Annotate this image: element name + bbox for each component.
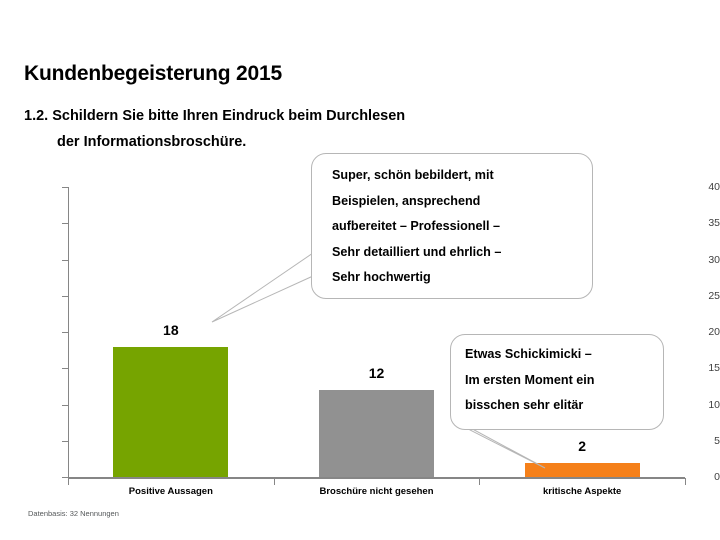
bar-value-label: 2 xyxy=(578,438,586,454)
category-label: kritische Aspekte xyxy=(543,486,621,497)
callout-positive-feedback: Super, schön bebildert, mit Beispielen, … xyxy=(311,153,593,299)
x-axis-separator-tick xyxy=(685,478,686,485)
bar-value-label: 12 xyxy=(369,365,385,381)
callout-critical-feedback-text: Etwas Schickimicki – Im ersten Moment ei… xyxy=(465,342,653,419)
bar[interactable] xyxy=(525,463,640,478)
bar[interactable] xyxy=(113,347,228,478)
x-axis-separator-tick xyxy=(68,478,69,485)
bar[interactable] xyxy=(319,390,434,477)
slide: Kundenbegeisterung 2015 1.2. Schildern S… xyxy=(0,0,720,540)
x-axis-line xyxy=(68,477,685,479)
bar-value-label: 18 xyxy=(163,322,179,338)
x-axis-separator-tick xyxy=(274,478,275,485)
x-axis-separator-tick xyxy=(479,478,480,485)
data-basis-footnote: Datenbasis: 32 Nennungen xyxy=(28,509,119,518)
callout-critical-feedback: Etwas Schickimicki – Im ersten Moment ei… xyxy=(450,334,664,430)
callout-positive-feedback-text: Super, schön bebildert, mit Beispielen, … xyxy=(332,163,578,291)
category-label: Positive Aussagen xyxy=(129,486,213,497)
category-label: Broschüre nicht gesehen xyxy=(319,486,433,497)
